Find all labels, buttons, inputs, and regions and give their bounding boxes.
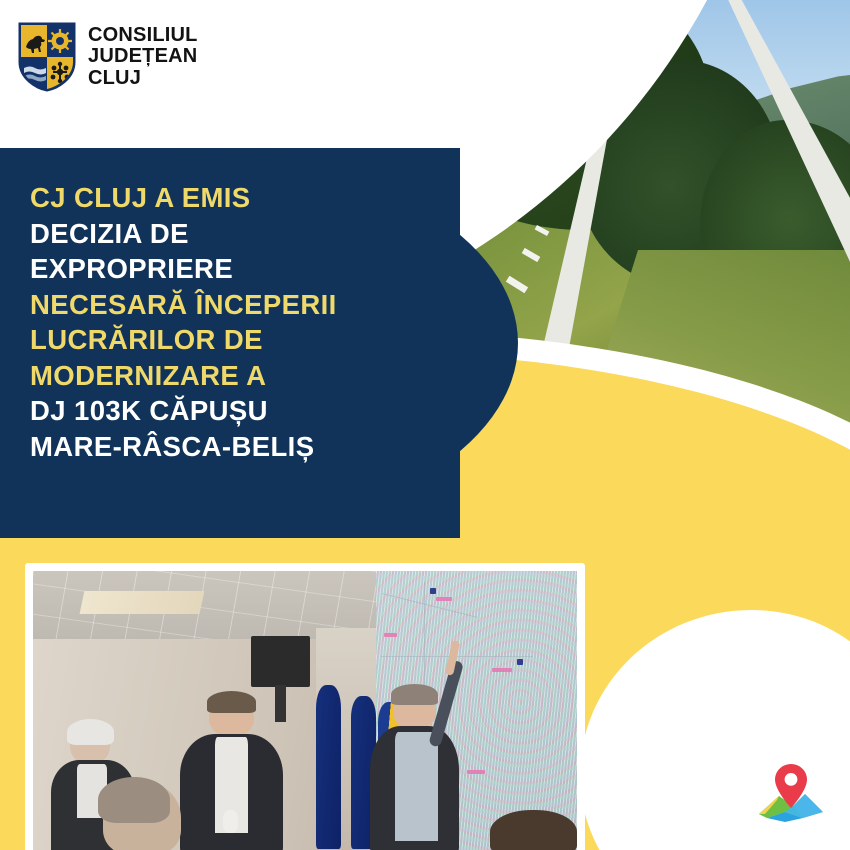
ceiling-light-panel [80, 591, 205, 614]
page-title: CJ CLUJ A EMIS DECIZIA DE EXPROPRIERE NE… [30, 180, 460, 464]
headline-line-7: DJ 103K CĂPUȘU [30, 393, 460, 429]
headline-line-6: MODERNIZARE A [30, 358, 460, 394]
headline-line-5: LUCRĂRILOR DE [30, 322, 460, 358]
head [490, 810, 577, 850]
map-node [517, 659, 523, 665]
brand-name-line-1: CONSILIUL [88, 25, 198, 47]
map-place-label [384, 633, 397, 637]
headline-line-2: DECIZIA DE [30, 216, 460, 252]
headline-line-3: EXPROPRIERE [30, 251, 460, 287]
headline-line-8: MARE-RÂSCA-BELIȘ [30, 429, 460, 465]
brand-name-line-2: JUDEȚEAN [88, 46, 198, 68]
loudspeaker [251, 636, 311, 687]
person-foreground-back-of-head [87, 781, 196, 850]
person-pointing-at-map [370, 679, 473, 850]
map-road-line [381, 656, 533, 657]
map-place-label [436, 597, 452, 601]
person-foreground-right [490, 810, 577, 850]
map-location-pin-icon [755, 752, 827, 824]
map-place-label [492, 668, 512, 672]
brand-name-line-3: CLUJ [88, 68, 198, 90]
hair [98, 777, 170, 823]
press-conference-photo [25, 563, 585, 850]
press-photo-content [33, 571, 577, 850]
headline-line-4: NECESARĂ ÎNCEPERII [30, 287, 460, 323]
hair [207, 691, 257, 713]
shirt [395, 732, 438, 841]
hair [391, 684, 439, 705]
brand-logo: CONSILIUL JUDEȚEAN CLUJ [18, 22, 198, 92]
headline-line-1: CJ CLUJ A EMIS [30, 180, 460, 216]
cluj-county-coat-of-arms-shield-icon [18, 22, 76, 92]
eu-flag [316, 685, 341, 850]
map-node [430, 588, 436, 594]
hair [67, 719, 114, 745]
microphone [223, 810, 237, 832]
brand-name: CONSILIUL JUDEȚEAN CLUJ [88, 25, 198, 90]
poster-canvas: CJ CLUJ A EMIS DECIZIA DE EXPROPRIERE NE… [0, 0, 850, 850]
